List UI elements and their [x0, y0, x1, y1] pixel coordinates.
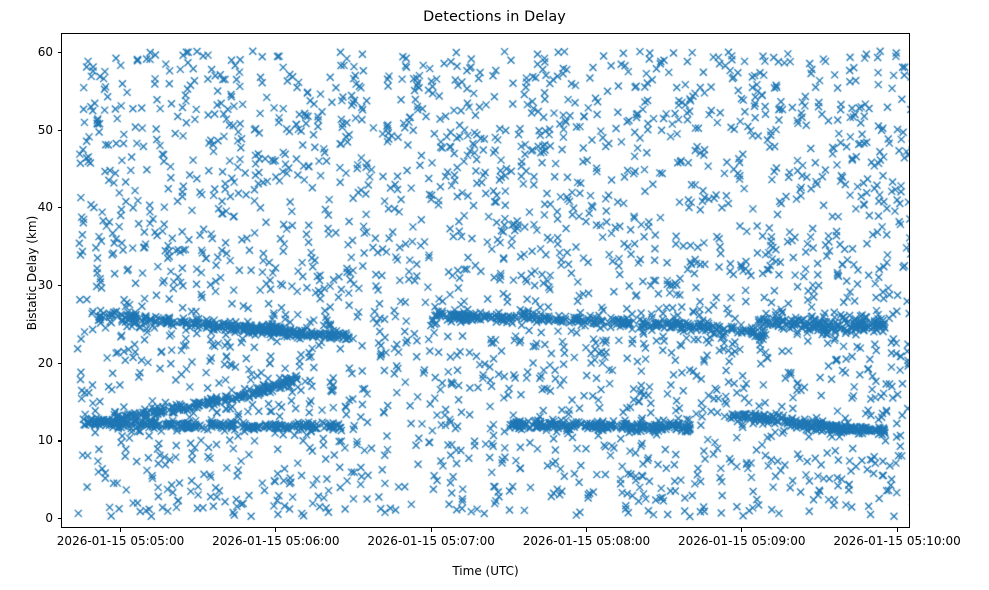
page-title: Detections in Delay: [0, 9, 989, 25]
x-tick-mark: [897, 528, 898, 532]
x-tick-label: 2026-01-15 05:05:00: [31, 535, 211, 547]
x-tick-label: 2026-01-15 05:06:00: [186, 535, 366, 547]
x-tick-label: 2026-01-15 05:10:00: [807, 535, 987, 547]
x-tick-mark: [275, 528, 276, 532]
x-tick-mark: [586, 528, 587, 532]
x-tick-label: 2026-01-15 05:07:00: [341, 535, 521, 547]
scatter-plot-canvas: [62, 34, 910, 528]
plot-area[interactable]: [61, 33, 910, 528]
y-axis-label: Bistatic Delay (km): [25, 23, 39, 523]
x-axis-label: Time (UTC): [61, 564, 910, 578]
figure-canvas: Detections in Delay 01020304050602026-01…: [0, 0, 989, 590]
x-tick-mark: [431, 528, 432, 532]
x-tick-label: 2026-01-15 05:09:00: [652, 535, 832, 547]
x-tick-mark: [741, 528, 742, 532]
x-tick-mark: [120, 528, 121, 532]
x-tick-label: 2026-01-15 05:08:00: [496, 535, 676, 547]
